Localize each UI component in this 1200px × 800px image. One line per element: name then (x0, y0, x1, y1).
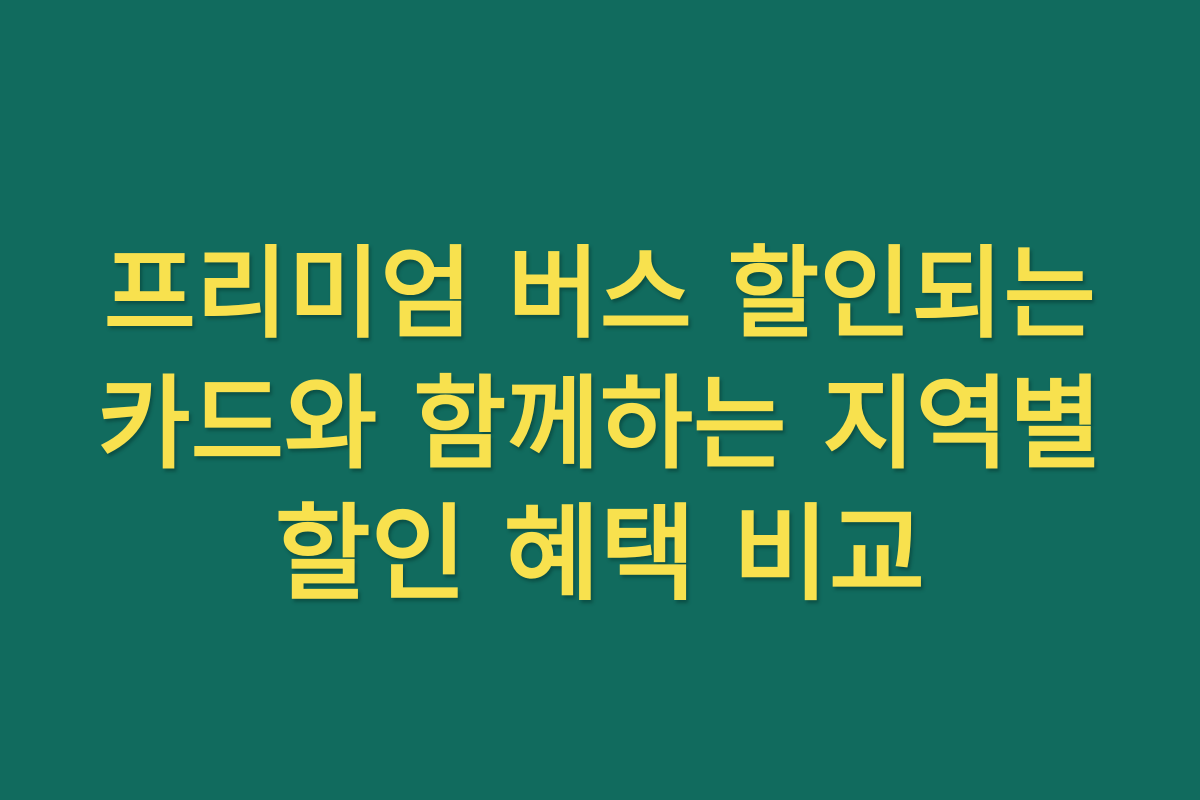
headline-line-3: 할인 혜택 비교 (0, 489, 1200, 619)
headline-line-1: 프리미엄 버스 할인되는 (0, 229, 1200, 359)
headline-line-2: 카드와 함께하는 지역별 (0, 359, 1200, 489)
banner-canvas: 프리미엄 버스 할인되는 카드와 함께하는 지역별 할인 혜택 비교 (0, 0, 1200, 800)
headline-block: 프리미엄 버스 할인되는 카드와 함께하는 지역별 할인 혜택 비교 (0, 181, 1200, 619)
